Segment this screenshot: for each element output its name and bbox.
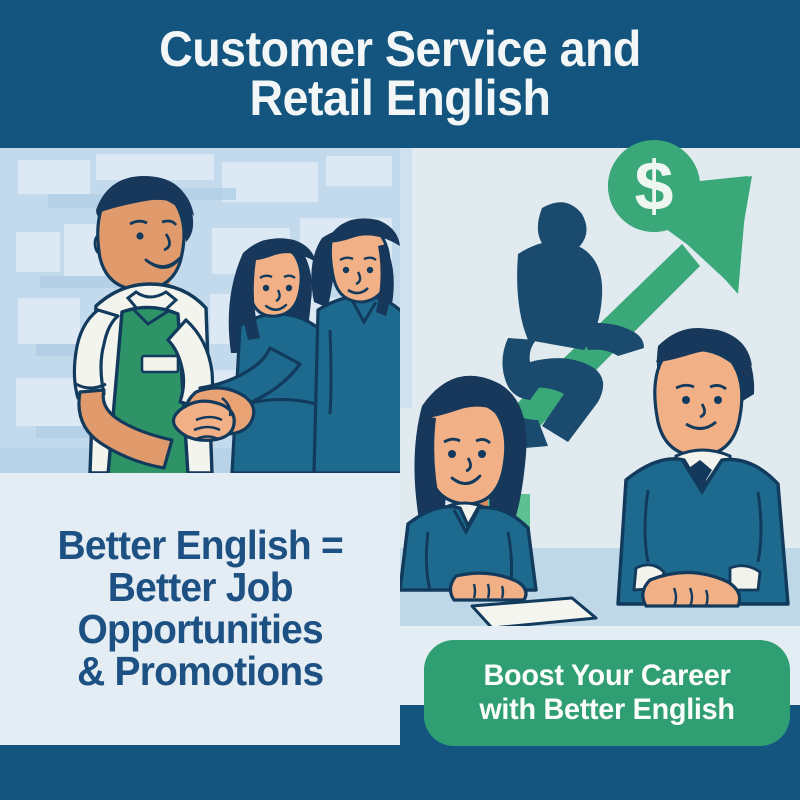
tagline-panel: Better English = Better Job Opportunitie… [0,473,400,745]
page-title: Customer Service and Retail English [122,25,678,123]
poster-canvas: $ [0,0,800,800]
svg-text:$: $ [635,147,674,225]
dollar-coin-icon: $ [608,140,700,232]
header-bar: Customer Service and Retail English [0,0,800,148]
tagline-text: Better English = Better Job Opportunitie… [46,525,354,692]
right-illustration-panel: $ [400,148,800,626]
career-growth-office-scene: $ [400,148,800,626]
male-customer [311,218,400,473]
left-illustration-panel [0,148,400,473]
footer-band [0,745,800,800]
cta-label: Boost Your Career with Better English [479,659,734,726]
retail-handshake-scene [0,148,400,473]
employee-name-tag [142,356,178,372]
cta-badge[interactable]: Boost Your Career with Better English [424,640,790,746]
